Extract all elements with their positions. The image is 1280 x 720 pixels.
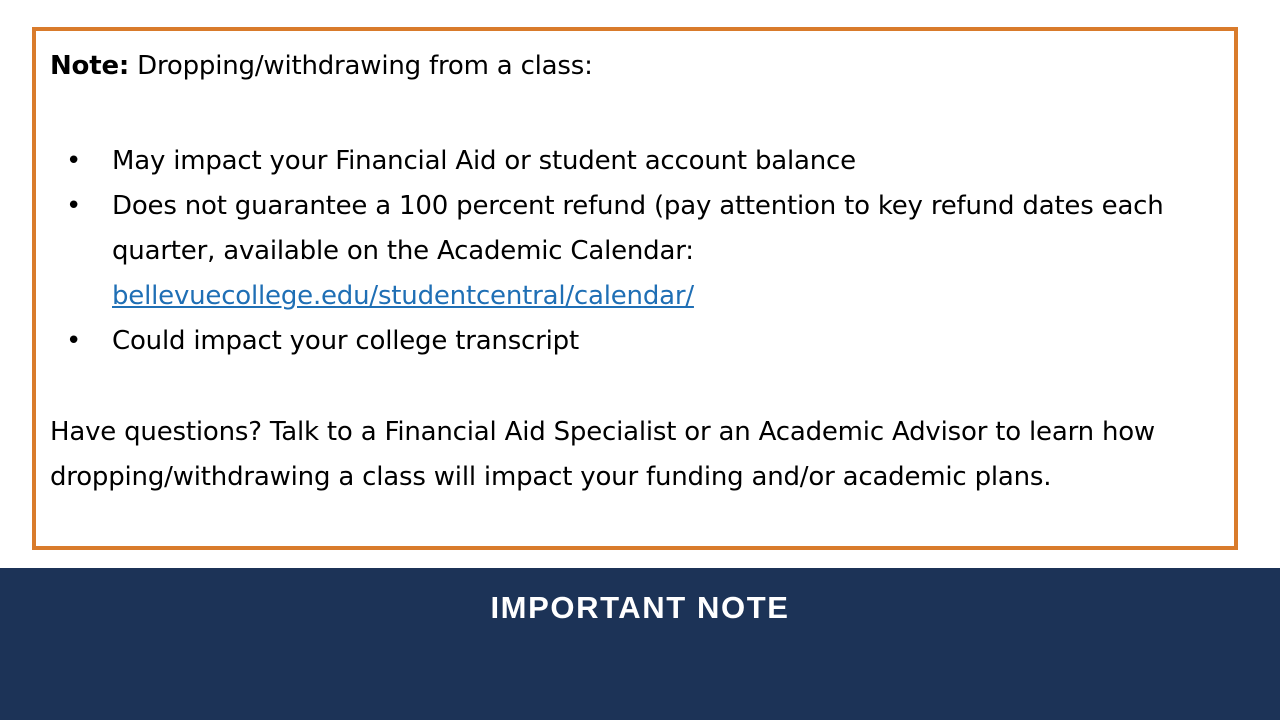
bullet-dot-icon: •	[66, 319, 81, 364]
note-bullet-list: • May impact your Financial Aid or stude…	[50, 139, 1220, 364]
bullet-text: Does not guarantee a 100 percent refund …	[112, 184, 1220, 319]
important-note-box: Note: Dropping/withdrawing from a class:…	[32, 27, 1238, 550]
bullet-dot-icon: •	[66, 184, 81, 229]
bottom-banner: IMPORTANT NOTE	[0, 568, 1280, 720]
note-lead-strong: Note:	[50, 51, 129, 81]
note-lead-rest: Dropping/withdrawing from a class:	[129, 51, 593, 81]
note-lead-line: Note: Dropping/withdrawing from a class:	[50, 49, 1220, 83]
banner-title: IMPORTANT NOTE	[0, 590, 1280, 626]
bullet-dot-icon: •	[66, 139, 81, 184]
closing-paragraph: Have questions? Talk to a Financial Aid …	[50, 410, 1200, 500]
lead-bullets-spacer	[50, 83, 1220, 139]
bullet-text: May impact your Financial Aid or student…	[112, 139, 1220, 184]
bullets-closing-spacer	[50, 364, 1220, 410]
list-item: • Could impact your college transcript	[50, 319, 1220, 364]
academic-calendar-link[interactable]: bellevuecollege.edu/studentcentral/calen…	[112, 274, 694, 319]
note-box-content: Note: Dropping/withdrawing from a class:…	[50, 49, 1220, 538]
bullet-text: Could impact your college transcript	[112, 319, 1220, 364]
slide-canvas: Note: Dropping/withdrawing from a class:…	[0, 0, 1280, 720]
list-item: • Does not guarantee a 100 percent refun…	[50, 184, 1220, 319]
list-item: • May impact your Financial Aid or stude…	[50, 139, 1220, 184]
bullet-text-body: Does not guarantee a 100 percent refund …	[112, 191, 1164, 266]
